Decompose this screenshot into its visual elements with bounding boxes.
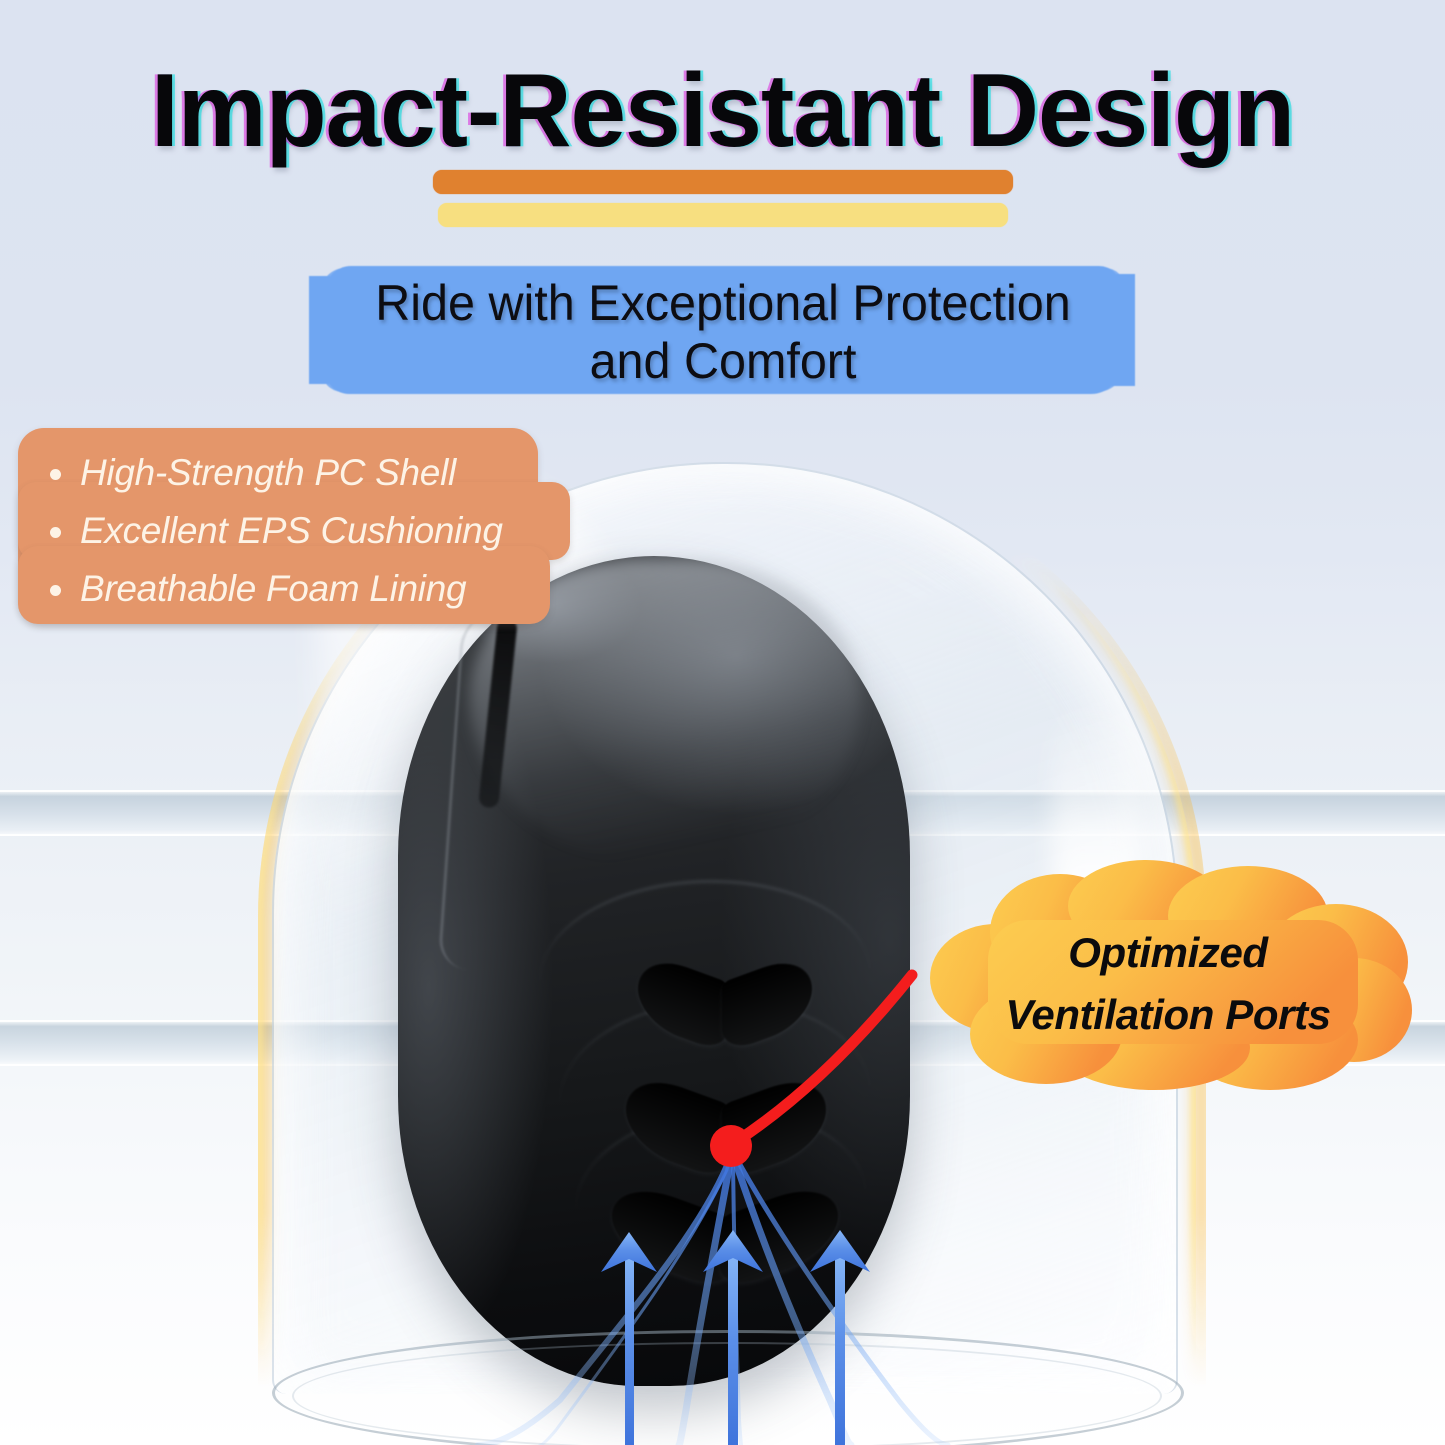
- helmet-side-vent-slot: [478, 617, 518, 808]
- glass-dome-base-ellipse: [272, 1330, 1184, 1445]
- glass-dome-base-ellipse-inner: [292, 1342, 1162, 1445]
- helmet-vent-chevron: [612, 1196, 838, 1272]
- helmet-rib: [555, 992, 875, 1200]
- helmet-vent-chevron: [626, 1086, 826, 1164]
- subtitle-line-1: Ride with Exceptional Protection: [315, 274, 1130, 332]
- subtitle-text: Ride with Exceptional Protection and Com…: [315, 274, 1130, 390]
- feature-list-box: High-Strength PC Shell Excellent EPS Cus…: [18, 428, 570, 624]
- leader-dot: [710, 1125, 752, 1167]
- callout-line-2: Ventilation Ports: [918, 984, 1418, 1046]
- vent-wing-left: [638, 950, 728, 1055]
- airflow-arrow-center: [703, 1230, 763, 1445]
- callout-line-1: Optimized: [918, 922, 1418, 984]
- airflow-streamlines: [478, 1163, 948, 1445]
- subtitle-line-2: and Comfort: [315, 332, 1130, 390]
- subtitle-block: Ride with Exceptional Protection and Com…: [303, 262, 1143, 400]
- page-title: Impact-Resistant Design: [29, 52, 1416, 171]
- vent-wing-left: [626, 1067, 730, 1183]
- helmet-seam-line: [438, 608, 520, 971]
- airflow-arrow-left: [601, 1232, 657, 1445]
- feature-list: High-Strength PC Shell Excellent EPS Cus…: [18, 428, 590, 618]
- ventilation-callout: Optimized Ventilation Ports: [918, 858, 1418, 1090]
- glass-shelf-edge-top: [0, 790, 1445, 792]
- helmet-rib: [570, 1100, 872, 1302]
- helmet-shell: [398, 556, 910, 1386]
- leader-line: [734, 975, 912, 1143]
- title-underline-orange: [433, 170, 1013, 194]
- vent-wing-left: [612, 1175, 730, 1294]
- helmet-rib: [537, 874, 874, 1078]
- infographic-canvas: Impact-Resistant Design Ride with Except…: [0, 0, 1445, 1445]
- helmet-vent-chevron: [638, 966, 812, 1038]
- feature-list-item: High-Strength PC Shell: [38, 444, 590, 502]
- feature-list-item: Excellent EPS Cushioning: [38, 502, 590, 560]
- vent-wing-right: [720, 1175, 838, 1294]
- airflow-arrow-group: [601, 1230, 870, 1445]
- title-underline-yellow: [438, 203, 1008, 227]
- vent-wing-right: [722, 950, 812, 1055]
- callout-text: Optimized Ventilation Ports: [918, 922, 1418, 1046]
- feature-list-item: Breathable Foam Lining: [38, 560, 590, 618]
- glass-shelf-band: [0, 790, 1445, 836]
- glass-shelf-edge-bottom: [0, 834, 1445, 836]
- glass-shelf-upper: [0, 790, 1445, 836]
- airflow-arrow-right: [810, 1230, 870, 1445]
- vent-wing-right: [722, 1067, 826, 1183]
